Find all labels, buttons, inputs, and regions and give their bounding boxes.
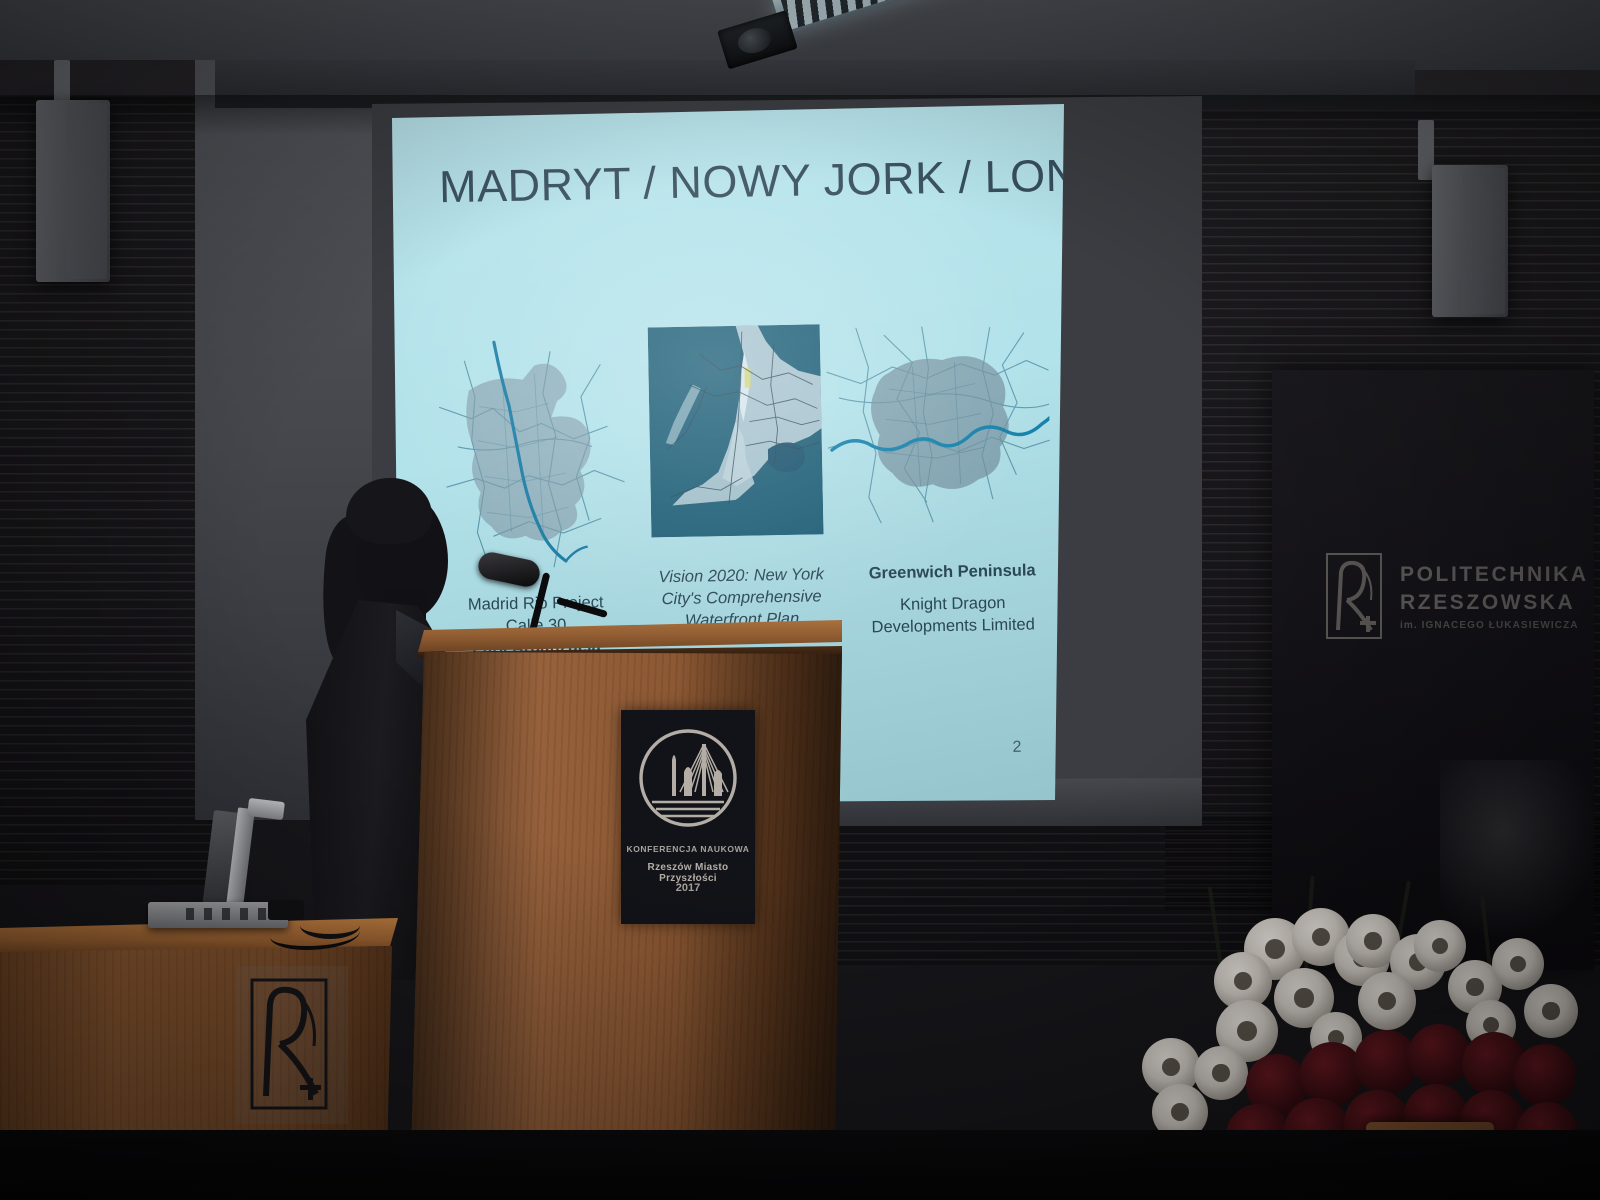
red-flower	[1300, 1042, 1364, 1106]
white-flower	[1358, 972, 1416, 1030]
london-map	[826, 324, 1052, 524]
banner-line-3: im. IGNACEGO ŁUKASIEWICZA	[1400, 620, 1579, 631]
slide-title: MADRYT / NOWY JORK / LONDYN	[439, 150, 1040, 213]
white-flower	[1492, 938, 1544, 990]
floor	[0, 1130, 1600, 1200]
red-flower	[1408, 1024, 1470, 1086]
speaker-left-face	[66, 103, 107, 279]
wall-speaker-right	[1432, 165, 1508, 317]
poster-line-3: 2017	[621, 882, 755, 894]
poster-line-2: Rzeszów Miasto Przyszłości	[621, 862, 755, 884]
poster-line-1: KONFERENCJA NAUKOWA	[621, 844, 755, 854]
desk-university-logo	[236, 966, 348, 1124]
new-york-map	[648, 324, 824, 537]
desk-cable-2	[300, 912, 360, 939]
cable-plug	[268, 900, 304, 920]
banner-line-1: POLITECHNIKA	[1400, 563, 1589, 587]
london-caption-line-1: Greenwich Peninsula	[850, 560, 1054, 586]
white-flower	[1524, 984, 1578, 1038]
white-flower	[1194, 1046, 1248, 1100]
politechnika-rzeszowska-logo	[1322, 550, 1386, 642]
slide-page-number: 2	[1012, 739, 1021, 757]
red-flower	[1514, 1044, 1576, 1106]
conference-poster: KONFERENCJA NAUKOWA Rzeszów Miasto Przys…	[621, 710, 755, 924]
banner-line-2: RZESZOWSKA	[1400, 591, 1575, 615]
wall-speaker-left	[36, 100, 110, 282]
london-caption-line-3: Developments Limited	[851, 614, 1055, 640]
speaker-right-face	[1462, 168, 1505, 314]
rzeszow-bridge-emblem	[636, 726, 740, 830]
new-york-caption-line-2: City's Comprehensive	[634, 586, 848, 612]
london-caption: Greenwich Peninsula Knight Dragon Develo…	[850, 560, 1055, 639]
presenter-hair	[346, 478, 432, 544]
lecture-hall-photo: MADRYT / NOWY JORK / LONDYN	[0, 0, 1600, 1200]
